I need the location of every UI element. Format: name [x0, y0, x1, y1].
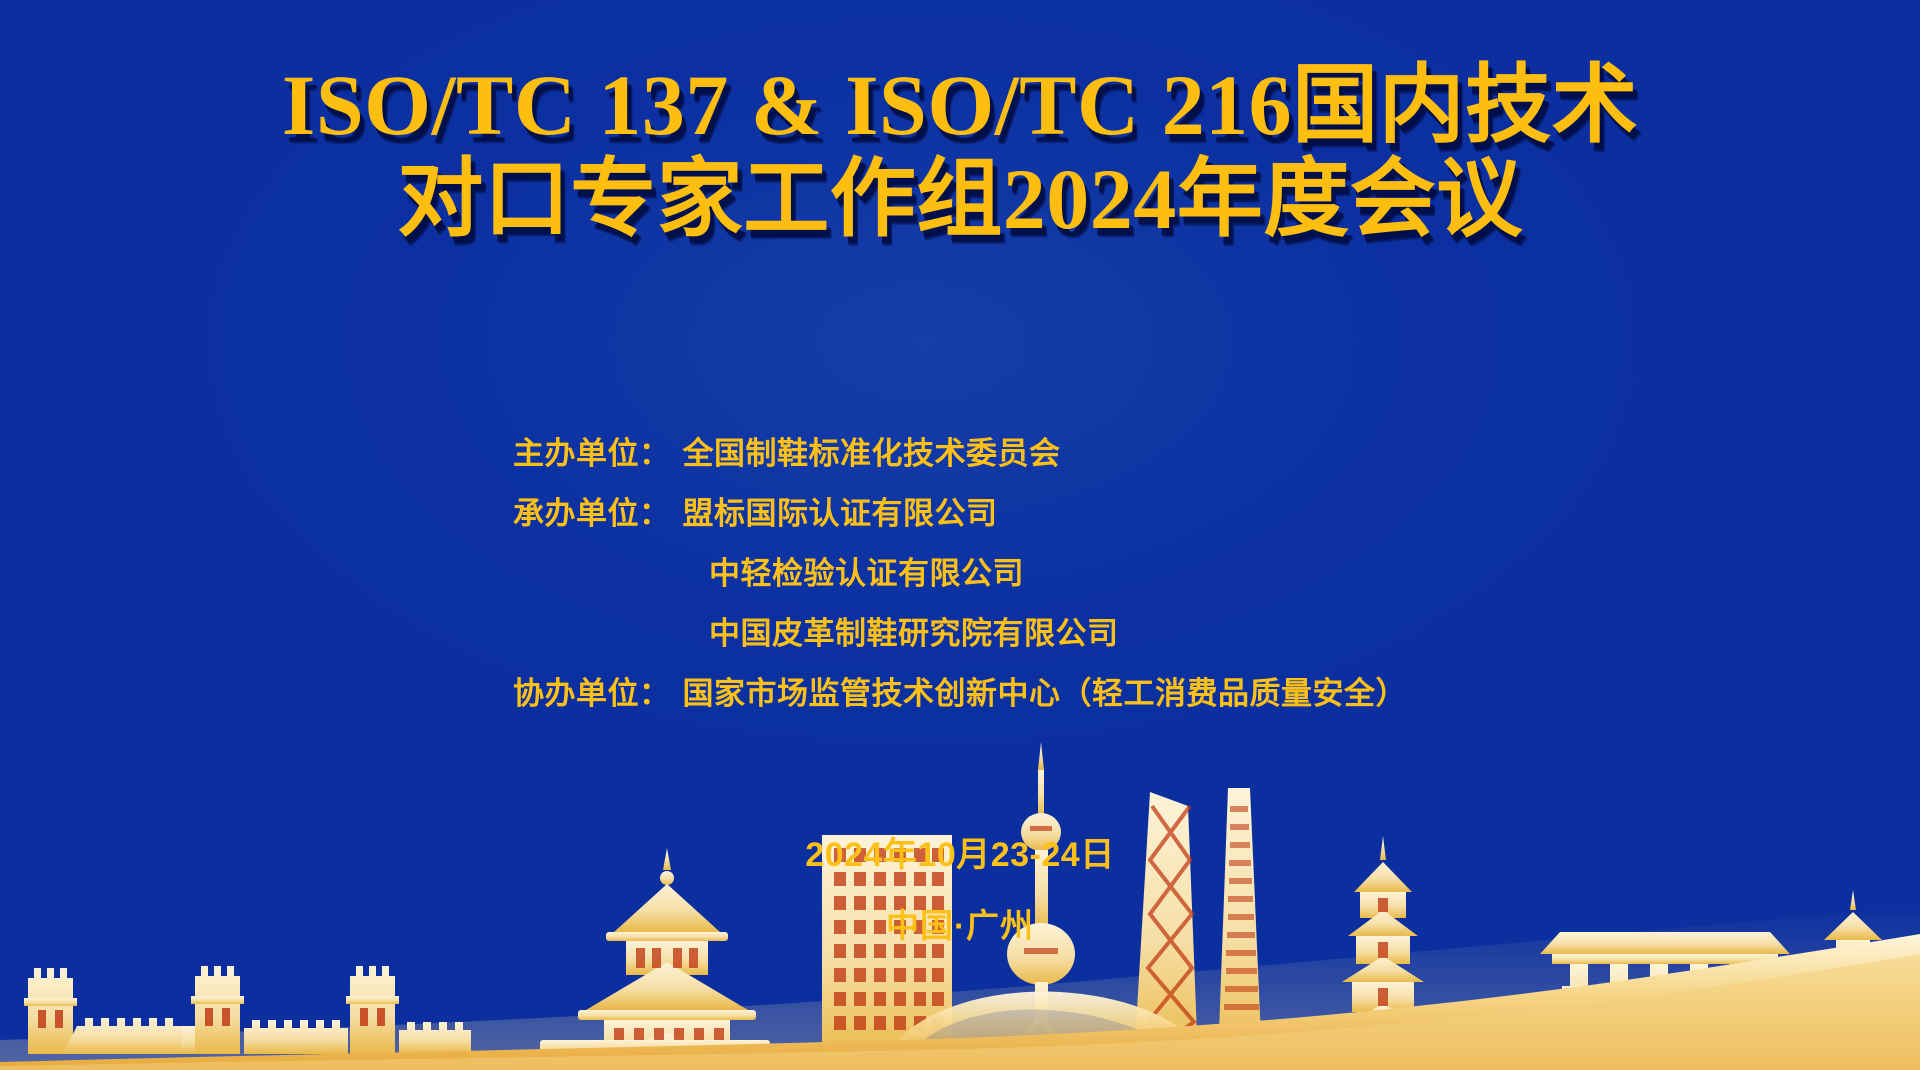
- title-line-2: 对口专家工作组2024年度会议: [0, 156, 1920, 244]
- event-meta-block: 2024年10月23-24日 中国·广州: [0, 838, 1920, 942]
- event-location: 中国·广州: [0, 909, 1920, 942]
- organizer-value-undertaker-3: 中国皮革制鞋研究院有限公司: [709, 618, 1119, 649]
- conference-poster: ISO/TC 137 & ISO/TC 216国内技术 对口专家工作组2024年…: [0, 0, 1920, 1070]
- organizer-label-undertaker: 承办单位：: [513, 498, 671, 529]
- organizer-label-host: 主办单位：: [513, 438, 671, 469]
- poster-title: ISO/TC 137 & ISO/TC 216国内技术 对口专家工作组2024年…: [0, 62, 1920, 243]
- organizer-row-undertaker-3: 中国皮革制鞋研究院有限公司: [513, 618, 1407, 649]
- organizer-label-coorganizer: 协办单位：: [513, 678, 671, 709]
- city-wall-shape: [24, 966, 471, 1054]
- ground-sweep-shape: [0, 934, 1920, 1070]
- organizer-row-undertaker: 承办单位：盟标国际认证有限公司: [513, 498, 1407, 529]
- traditional-hall-shape: [1540, 932, 1790, 1070]
- event-date: 2024年10月23-24日: [0, 838, 1920, 872]
- organizer-value-undertaker: 盟标国际认证有限公司: [683, 498, 998, 529]
- organizer-row-host: 主办单位：全国制鞋标准化技术委员会: [513, 438, 1407, 469]
- organizer-value-undertaker-2: 中轻检验认证有限公司: [709, 558, 1024, 589]
- organizer-row-undertaker-2: 中轻检验认证有限公司: [513, 558, 1407, 589]
- organizer-value-host: 全国制鞋标准化技术委员会: [683, 438, 1061, 469]
- bridge-arch-shape: [880, 992, 1216, 1070]
- organizer-row-coorganizer: 协办单位：国家市场监管技术创新中心（轻工消费品质量安全）: [513, 678, 1407, 709]
- title-line-1: ISO/TC 137 & ISO/TC 216国内技术: [0, 62, 1920, 150]
- organizer-block: 主办单位：全国制鞋标准化技术委员会 承办单位：盟标国际认证有限公司 中轻检验认证…: [0, 438, 1920, 738]
- organizer-value-coorganizer: 国家市场监管技术创新中心（轻工消费品质量安全）: [683, 678, 1408, 709]
